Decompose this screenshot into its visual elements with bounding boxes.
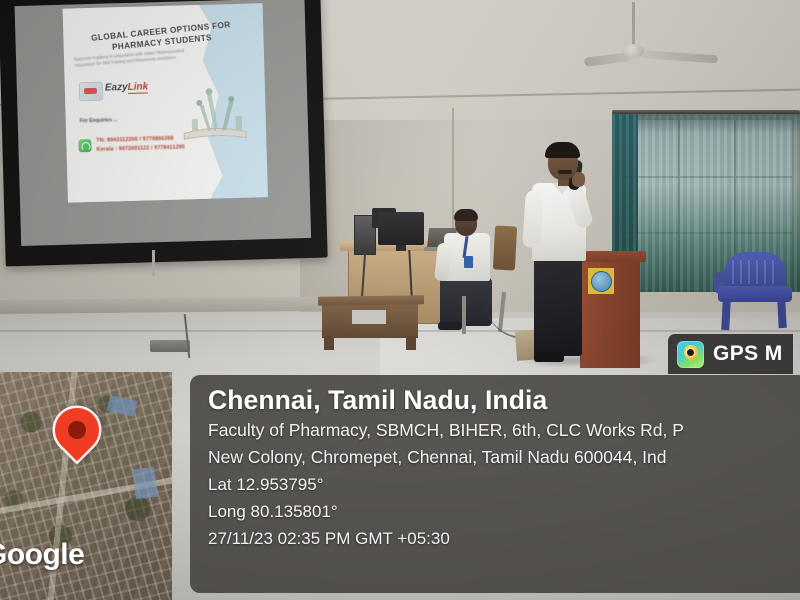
window-curtain <box>638 112 696 292</box>
gps-address-line-2: New Colony, Chromepet, Chennai, Tamil Na… <box>208 444 800 471</box>
speaker-mustache <box>558 170 572 174</box>
monitor-stand <box>396 245 406 251</box>
gps-info-panel: Chennai, Tamil Nadu, India Faculty of Ph… <box>190 375 800 593</box>
eazylink-logo-text: EazyLink <box>105 81 149 93</box>
bench-opening <box>352 310 386 324</box>
gps-map-building <box>132 467 158 500</box>
ceiling-fan-hub <box>622 44 644 58</box>
eazylink-logo: EazyLink <box>79 78 168 102</box>
plastic-chair-leg <box>721 300 731 330</box>
gps-map-camera-badge: GPS M <box>668 334 793 374</box>
projection-screen-support <box>152 250 155 276</box>
curtain-rod <box>612 110 800 114</box>
gps-longitude: Long 80.135801° <box>208 498 800 525</box>
wooden-chair <box>493 225 517 270</box>
plastic-chair-leg <box>777 300 786 328</box>
bench-leg <box>324 336 334 350</box>
computer-monitor <box>378 212 424 245</box>
bench-leg <box>406 336 416 350</box>
google-watermark: Google <box>0 538 84 572</box>
wooden-bench-top <box>318 295 424 305</box>
seated-person-id-badge <box>464 256 473 268</box>
whatsapp-icon <box>78 139 91 152</box>
ceiling-fan-rod <box>632 2 635 48</box>
gps-map-camera-label: GPS M <box>713 342 783 366</box>
gps-city-line: Chennai, Tamil Nadu, India <box>208 383 800 417</box>
speaker-trousers <box>534 258 582 356</box>
plastic-chair <box>724 252 786 290</box>
gps-timestamp: 27/11/23 02:35 PM GMT +05:30 <box>208 525 800 552</box>
projection-screen: GLOBAL CAREER OPTIONS FOR PHARMACY STUDE… <box>0 0 328 266</box>
seated-person-legs <box>440 278 492 326</box>
gps-map-camera-app-icon <box>677 341 704 368</box>
presentation-slide: GLOBAL CAREER OPTIONS FOR PHARMACY STUDE… <box>63 3 268 203</box>
slide-enquiry-label: For Enquiries ... <box>80 117 118 124</box>
floor-object <box>150 340 190 352</box>
slide-illustration <box>177 82 253 146</box>
seated-person-shoe <box>438 322 462 330</box>
seated-person-hair <box>454 209 478 221</box>
gps-map-thumbnail: Google <box>0 372 172 600</box>
chair-leg <box>462 296 466 334</box>
screenshot-root: GLOBAL CAREER OPTIONS FOR PHARMACY STUDE… <box>0 0 800 600</box>
gps-latitude: Lat 12.953795° <box>208 471 800 498</box>
curtain-valance <box>638 112 800 134</box>
speaker-shoe <box>534 352 564 362</box>
projection-screen-surface: GLOBAL CAREER OPTIONS FOR PHARMACY STUDE… <box>15 0 312 246</box>
eazylink-logo-mark <box>79 82 104 102</box>
gps-address-line-1: Faculty of Pharmacy, SBMCH, BIHER, 6th, … <box>208 417 800 444</box>
institution-emblem <box>588 268 614 294</box>
speaker-hair <box>545 142 580 158</box>
